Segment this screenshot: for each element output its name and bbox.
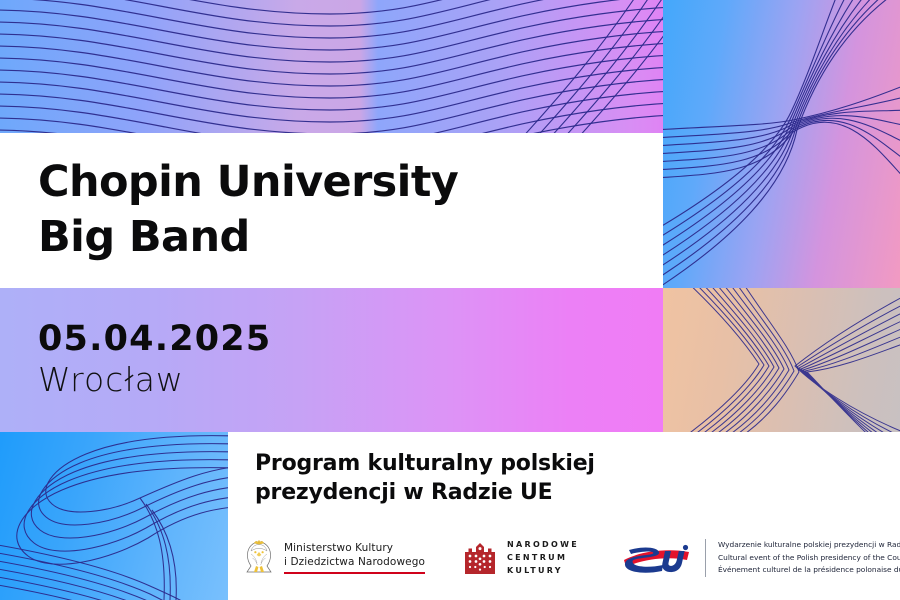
eu-divider xyxy=(705,539,706,577)
ministry-wordmark: Ministerstwo Kultury i Dziedzictwa Narod… xyxy=(284,542,425,575)
eu-caption-fr: Événement culturel de la présidence polo… xyxy=(718,565,900,576)
ministry-red-rule xyxy=(284,572,425,574)
nck-castle-mark-icon xyxy=(463,541,497,575)
eu-presidency-caption: Wydarzenie kulturalne polskiej prezydenc… xyxy=(718,540,900,576)
eu-caption-pl: Wydarzenie kulturalne polskiej prezydenc… xyxy=(718,540,900,551)
title-line-1: Chopin University xyxy=(38,155,658,210)
decorative-panel-top-right xyxy=(663,0,900,290)
logo-strip: Ministerstwo Kultury i Dziedzictwa Narod… xyxy=(243,530,900,586)
pinch-lines-top-right xyxy=(663,0,900,290)
nck-line-3: KULTURY xyxy=(507,567,579,575)
decorative-panel-blue xyxy=(0,432,228,600)
nck-line-1: NARODOWE xyxy=(507,541,579,549)
logo-ministry-of-culture: Ministerstwo Kultury i Dziedzictwa Narod… xyxy=(243,530,443,586)
swirl-lines-blue xyxy=(0,432,228,600)
event-date-location: 05.04.2025 Wrocław xyxy=(38,320,271,400)
poster-title: Chopin University Big Band xyxy=(38,155,658,265)
event-poster: Chopin University Big Band xyxy=(0,0,900,600)
logo-eu-presidency: Wydarzenie kulturalne polskiej prezydenc… xyxy=(599,530,900,586)
event-date: 05.04.2025 xyxy=(38,320,271,359)
nck-line-2: CENTRUM xyxy=(507,554,579,562)
event-city: Wrocław xyxy=(38,361,271,400)
polish-eagle-emblem-icon xyxy=(243,539,275,577)
title-line-2: Big Band xyxy=(38,210,658,265)
eu-caption-en: Cultural event of the Polish presidency … xyxy=(718,553,900,564)
program-line-2: prezydencji w Radzie UE xyxy=(255,479,685,508)
logo-narodowe-centrum-kultury: NARODOWE CENTRUM KULTURY xyxy=(443,530,599,586)
program-subtitle: Program kulturalny polskiej prezydencji … xyxy=(255,450,685,507)
eu-presidency-monogram-icon xyxy=(621,538,693,578)
nck-wordmark: NARODOWE CENTRUM KULTURY xyxy=(507,541,579,575)
decorative-panel-tan xyxy=(663,288,900,432)
ministry-line-1: Ministerstwo Kultury xyxy=(284,542,425,556)
program-line-1: Program kulturalny polskiej xyxy=(255,450,685,479)
ministry-line-2: i Dziedzictwa Narodowego xyxy=(284,556,425,570)
pinch-lines-tan xyxy=(663,288,900,432)
